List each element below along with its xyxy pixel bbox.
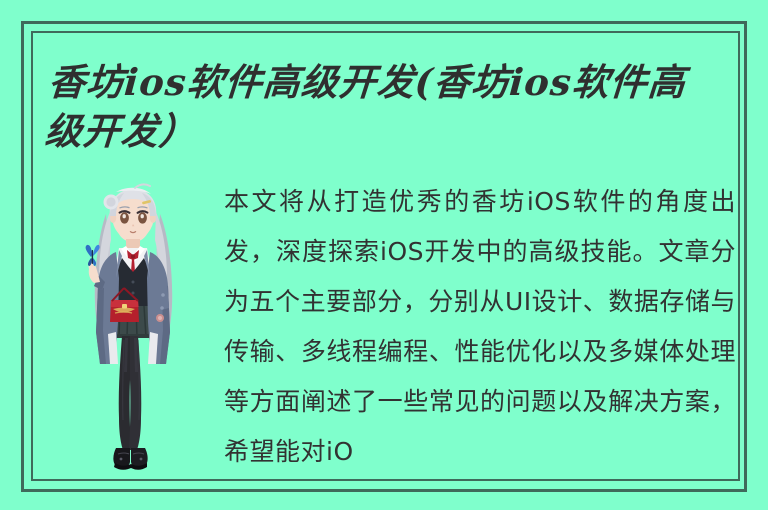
page-title: 香坊ios软件高级开发(香坊ios软件高级开发） <box>43 58 710 156</box>
page-root: 香坊ios软件高级开发(香坊ios软件高级开发） <box>0 0 768 510</box>
article-summary: 本文将从打造优秀的香坊iOS软件的角度出发，深度探索iOS开发中的高级技能。文章… <box>224 177 736 477</box>
anime-girl-illustration <box>72 182 194 474</box>
title-block: 香坊ios软件高级开发(香坊ios软件高级开发） <box>50 58 710 156</box>
body-text-block: 本文将从打造优秀的香坊iOS软件的角度出发，深度探索iOS开发中的高级技能。文章… <box>224 177 736 477</box>
